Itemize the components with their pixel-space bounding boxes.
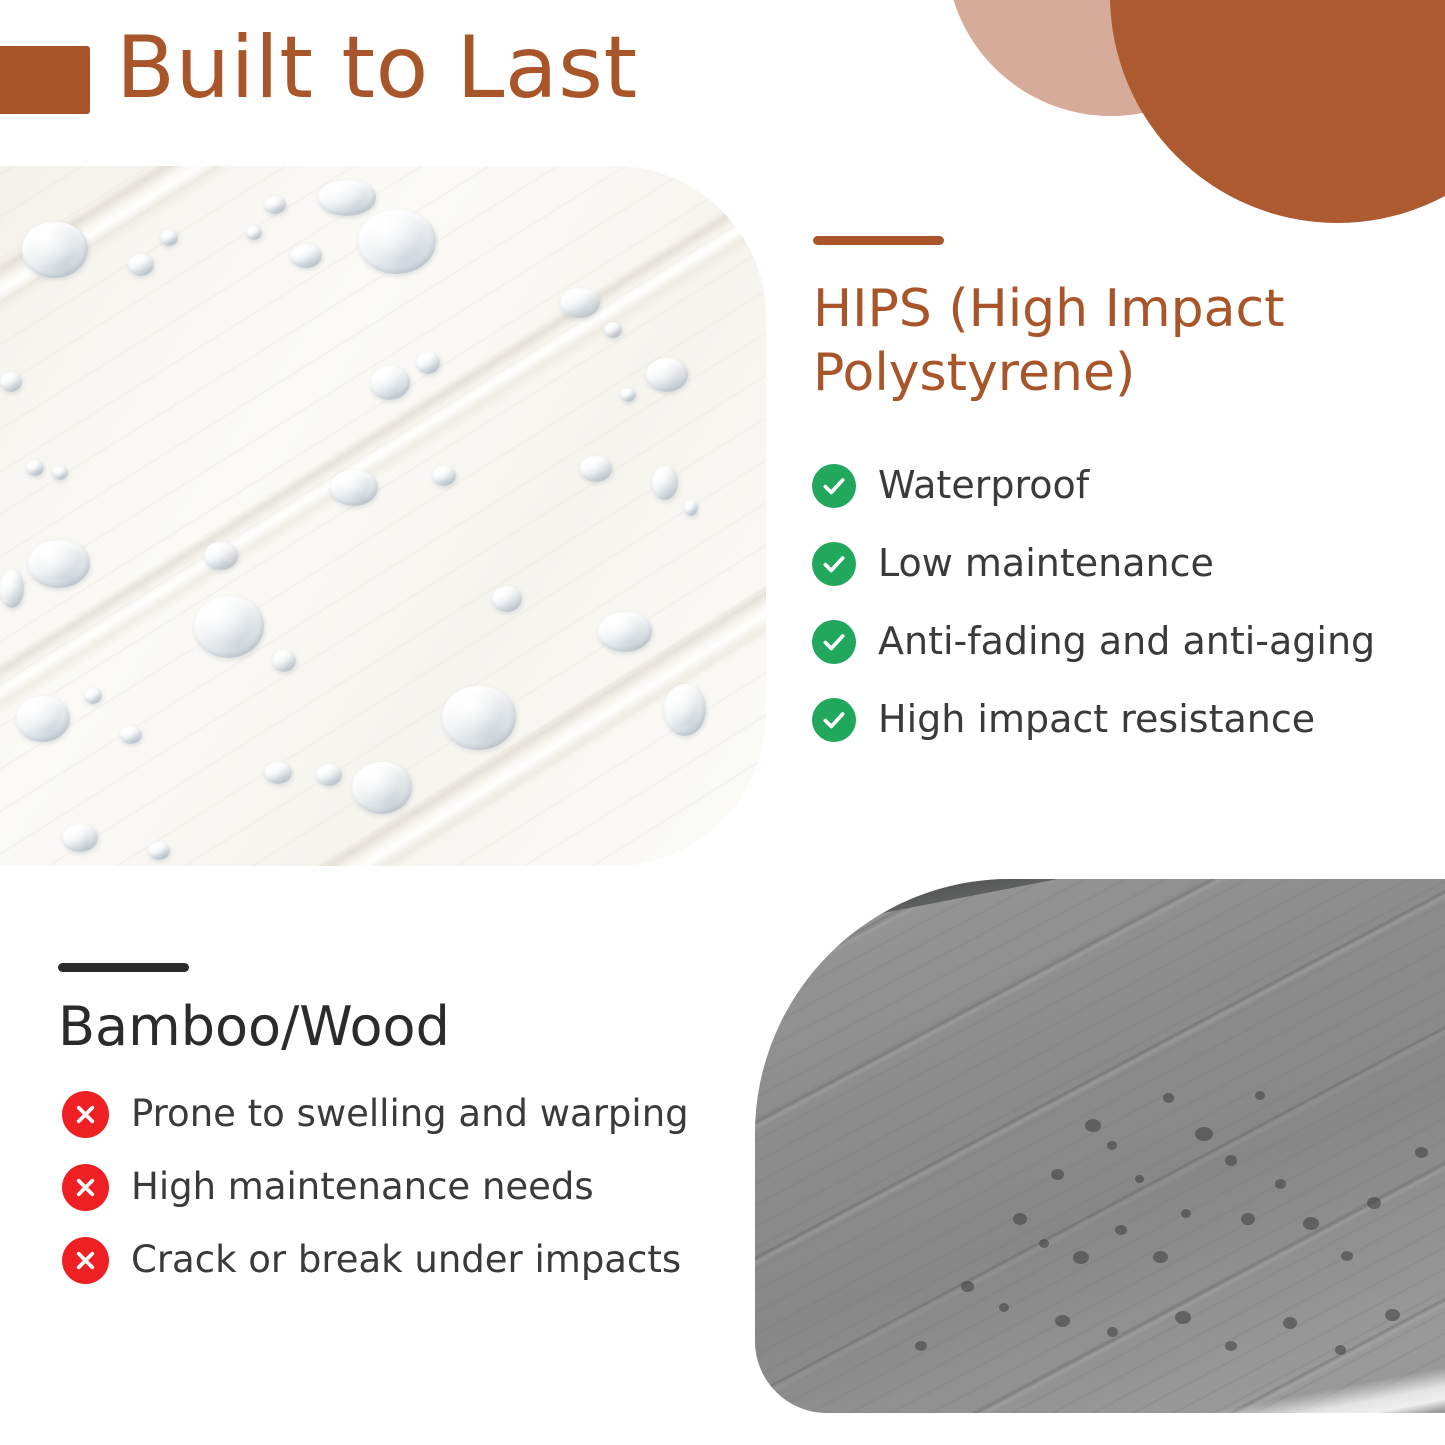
check-circle-icon bbox=[812, 620, 856, 664]
list-item: Waterproof bbox=[812, 447, 1432, 525]
list-item: Low maintenance bbox=[812, 525, 1432, 603]
hips-benefits-list: Waterproof Low maintenance Anti-fading a… bbox=[812, 447, 1432, 759]
list-item: Anti-fading and anti-aging bbox=[812, 603, 1432, 681]
weathered-wood-photo bbox=[755, 879, 1445, 1413]
list-item: High impact resistance bbox=[812, 681, 1432, 759]
check-circle-icon bbox=[812, 464, 856, 508]
list-item-label: High maintenance needs bbox=[131, 1167, 594, 1208]
check-circle-icon bbox=[812, 542, 856, 586]
list-item-label: Low maintenance bbox=[878, 543, 1214, 585]
list-item-label: High impact resistance bbox=[878, 699, 1315, 741]
list-item-label: Crack or break under impacts bbox=[131, 1240, 681, 1281]
list-item: High maintenance needs bbox=[62, 1151, 762, 1224]
cross-circle-icon bbox=[62, 1237, 109, 1284]
wood-grain-surface bbox=[755, 879, 1445, 1413]
decorative-circle-dark bbox=[1110, 0, 1445, 223]
bamboo-section-rule bbox=[58, 963, 189, 972]
cross-circle-icon bbox=[62, 1091, 109, 1138]
bamboo-section-heading: Bamboo/Wood bbox=[58, 995, 450, 1060]
hips-section-rule bbox=[813, 236, 944, 245]
list-item-label: Prone to swelling and warping bbox=[131, 1094, 689, 1135]
infographic-page: Built to Last bbox=[0, 0, 1445, 1445]
cross-circle-icon bbox=[62, 1164, 109, 1211]
water-droplets-photo bbox=[0, 166, 766, 866]
hips-section-heading: HIPS (High Impact Polystyrene) bbox=[813, 277, 1343, 406]
page-title: Built to Last bbox=[116, 23, 638, 113]
list-item: Crack or break under impacts bbox=[62, 1224, 762, 1297]
bamboo-drawbacks-list: Prone to swelling and warping High maint… bbox=[62, 1078, 762, 1297]
list-item-label: Waterproof bbox=[878, 465, 1089, 507]
list-item: Prone to swelling and warping bbox=[62, 1078, 762, 1151]
check-circle-icon bbox=[812, 698, 856, 742]
list-item-label: Anti-fading and anti-aging bbox=[878, 621, 1375, 663]
title-accent-square-icon bbox=[0, 46, 90, 114]
